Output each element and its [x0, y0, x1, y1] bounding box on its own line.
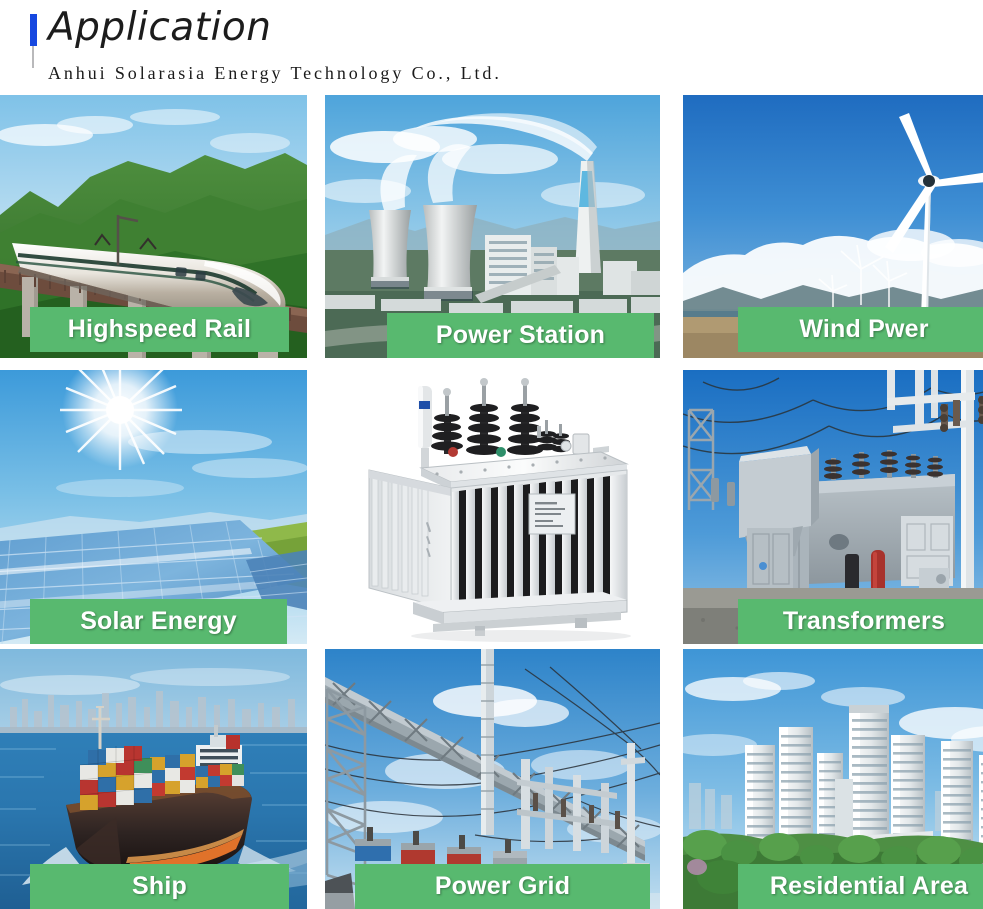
- page-title: Application: [48, 5, 271, 51]
- application-card-transformer-product[interactable]: [325, 370, 660, 644]
- application-grid: Highspeed Rail: [0, 95, 983, 909]
- application-card-wind-power[interactable]: Wind Pwer: [683, 95, 983, 358]
- card-label-residential-area: Residential Area: [738, 864, 983, 909]
- application-card-power-grid[interactable]: Power Grid: [325, 649, 660, 909]
- application-card-transformers[interactable]: Transformers: [683, 370, 983, 644]
- card-label-transformers: Transformers: [738, 599, 983, 644]
- card-label-solar-energy: Solar Energy: [30, 599, 287, 644]
- application-card-highspeed-rail[interactable]: Highspeed Rail: [0, 95, 307, 358]
- card-label-ship: Ship: [30, 864, 289, 909]
- card-label-power-grid: Power Grid: [355, 864, 650, 909]
- application-card-residential-area[interactable]: Residential Area: [683, 649, 983, 909]
- page-header: Application Anhui Solarasia Energy Techn…: [0, 0, 983, 95]
- application-card-power-station[interactable]: Power Station: [325, 95, 660, 358]
- blue-accent-bar-icon: [30, 14, 37, 46]
- application-card-ship[interactable]: Ship: [0, 649, 307, 909]
- application-card-solar-energy[interactable]: Solar Energy: [0, 370, 307, 644]
- accent-tail-line-icon: [32, 46, 34, 68]
- company-name: Anhui Solarasia Energy Technology Co., L…: [48, 62, 502, 84]
- oil-immersed-transformer-product-photo: [325, 370, 660, 644]
- card-label-wind-power: Wind Pwer: [738, 307, 983, 352]
- card-label-highspeed-rail: Highspeed Rail: [30, 307, 289, 352]
- card-label-power-station: Power Station: [387, 313, 654, 358]
